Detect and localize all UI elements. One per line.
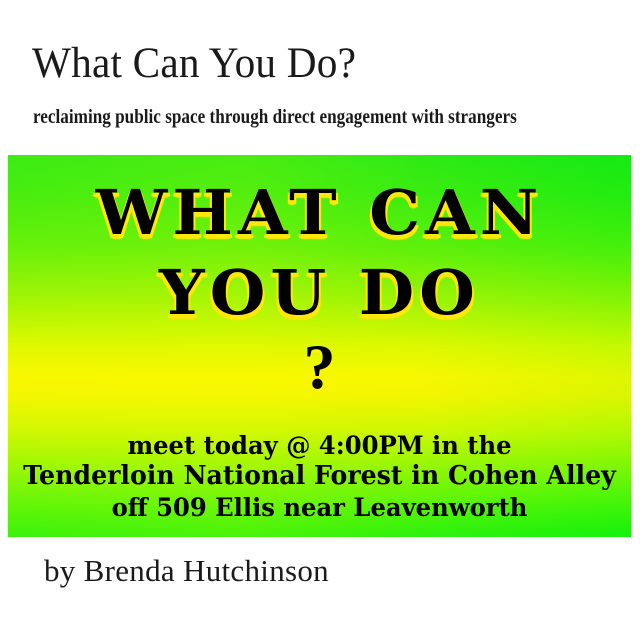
poster-body-group: meet today @ 4:00PM in the Tenderloin Na… [8,430,631,523]
poster-body-line-3: off 509 Ellis near Leavenworth [17,492,621,523]
page-subtitle: reclaiming public space through direct e… [33,106,517,130]
poster-headline-question-mark: ? [8,335,631,399]
poster-body-line-2: Tenderloin National Forest in Cohen Alle… [17,461,621,492]
page-title: What Can You Do? [32,40,356,88]
poster-headline-group: WHAT CAN YOU DO ? [8,181,631,399]
page-canvas: What Can You Do? reclaiming public space… [0,0,640,640]
poster-body-line-1: meet today @ 4:00PM in the [17,430,621,461]
poster-headline-line-1: WHAT CAN [8,181,631,245]
author-byline: by Brenda Hutchinson [44,552,329,590]
poster-headline-line-2: YOU DO [8,261,631,325]
poster-image: WHAT CAN YOU DO ? meet today @ 4:00PM in… [8,155,631,537]
